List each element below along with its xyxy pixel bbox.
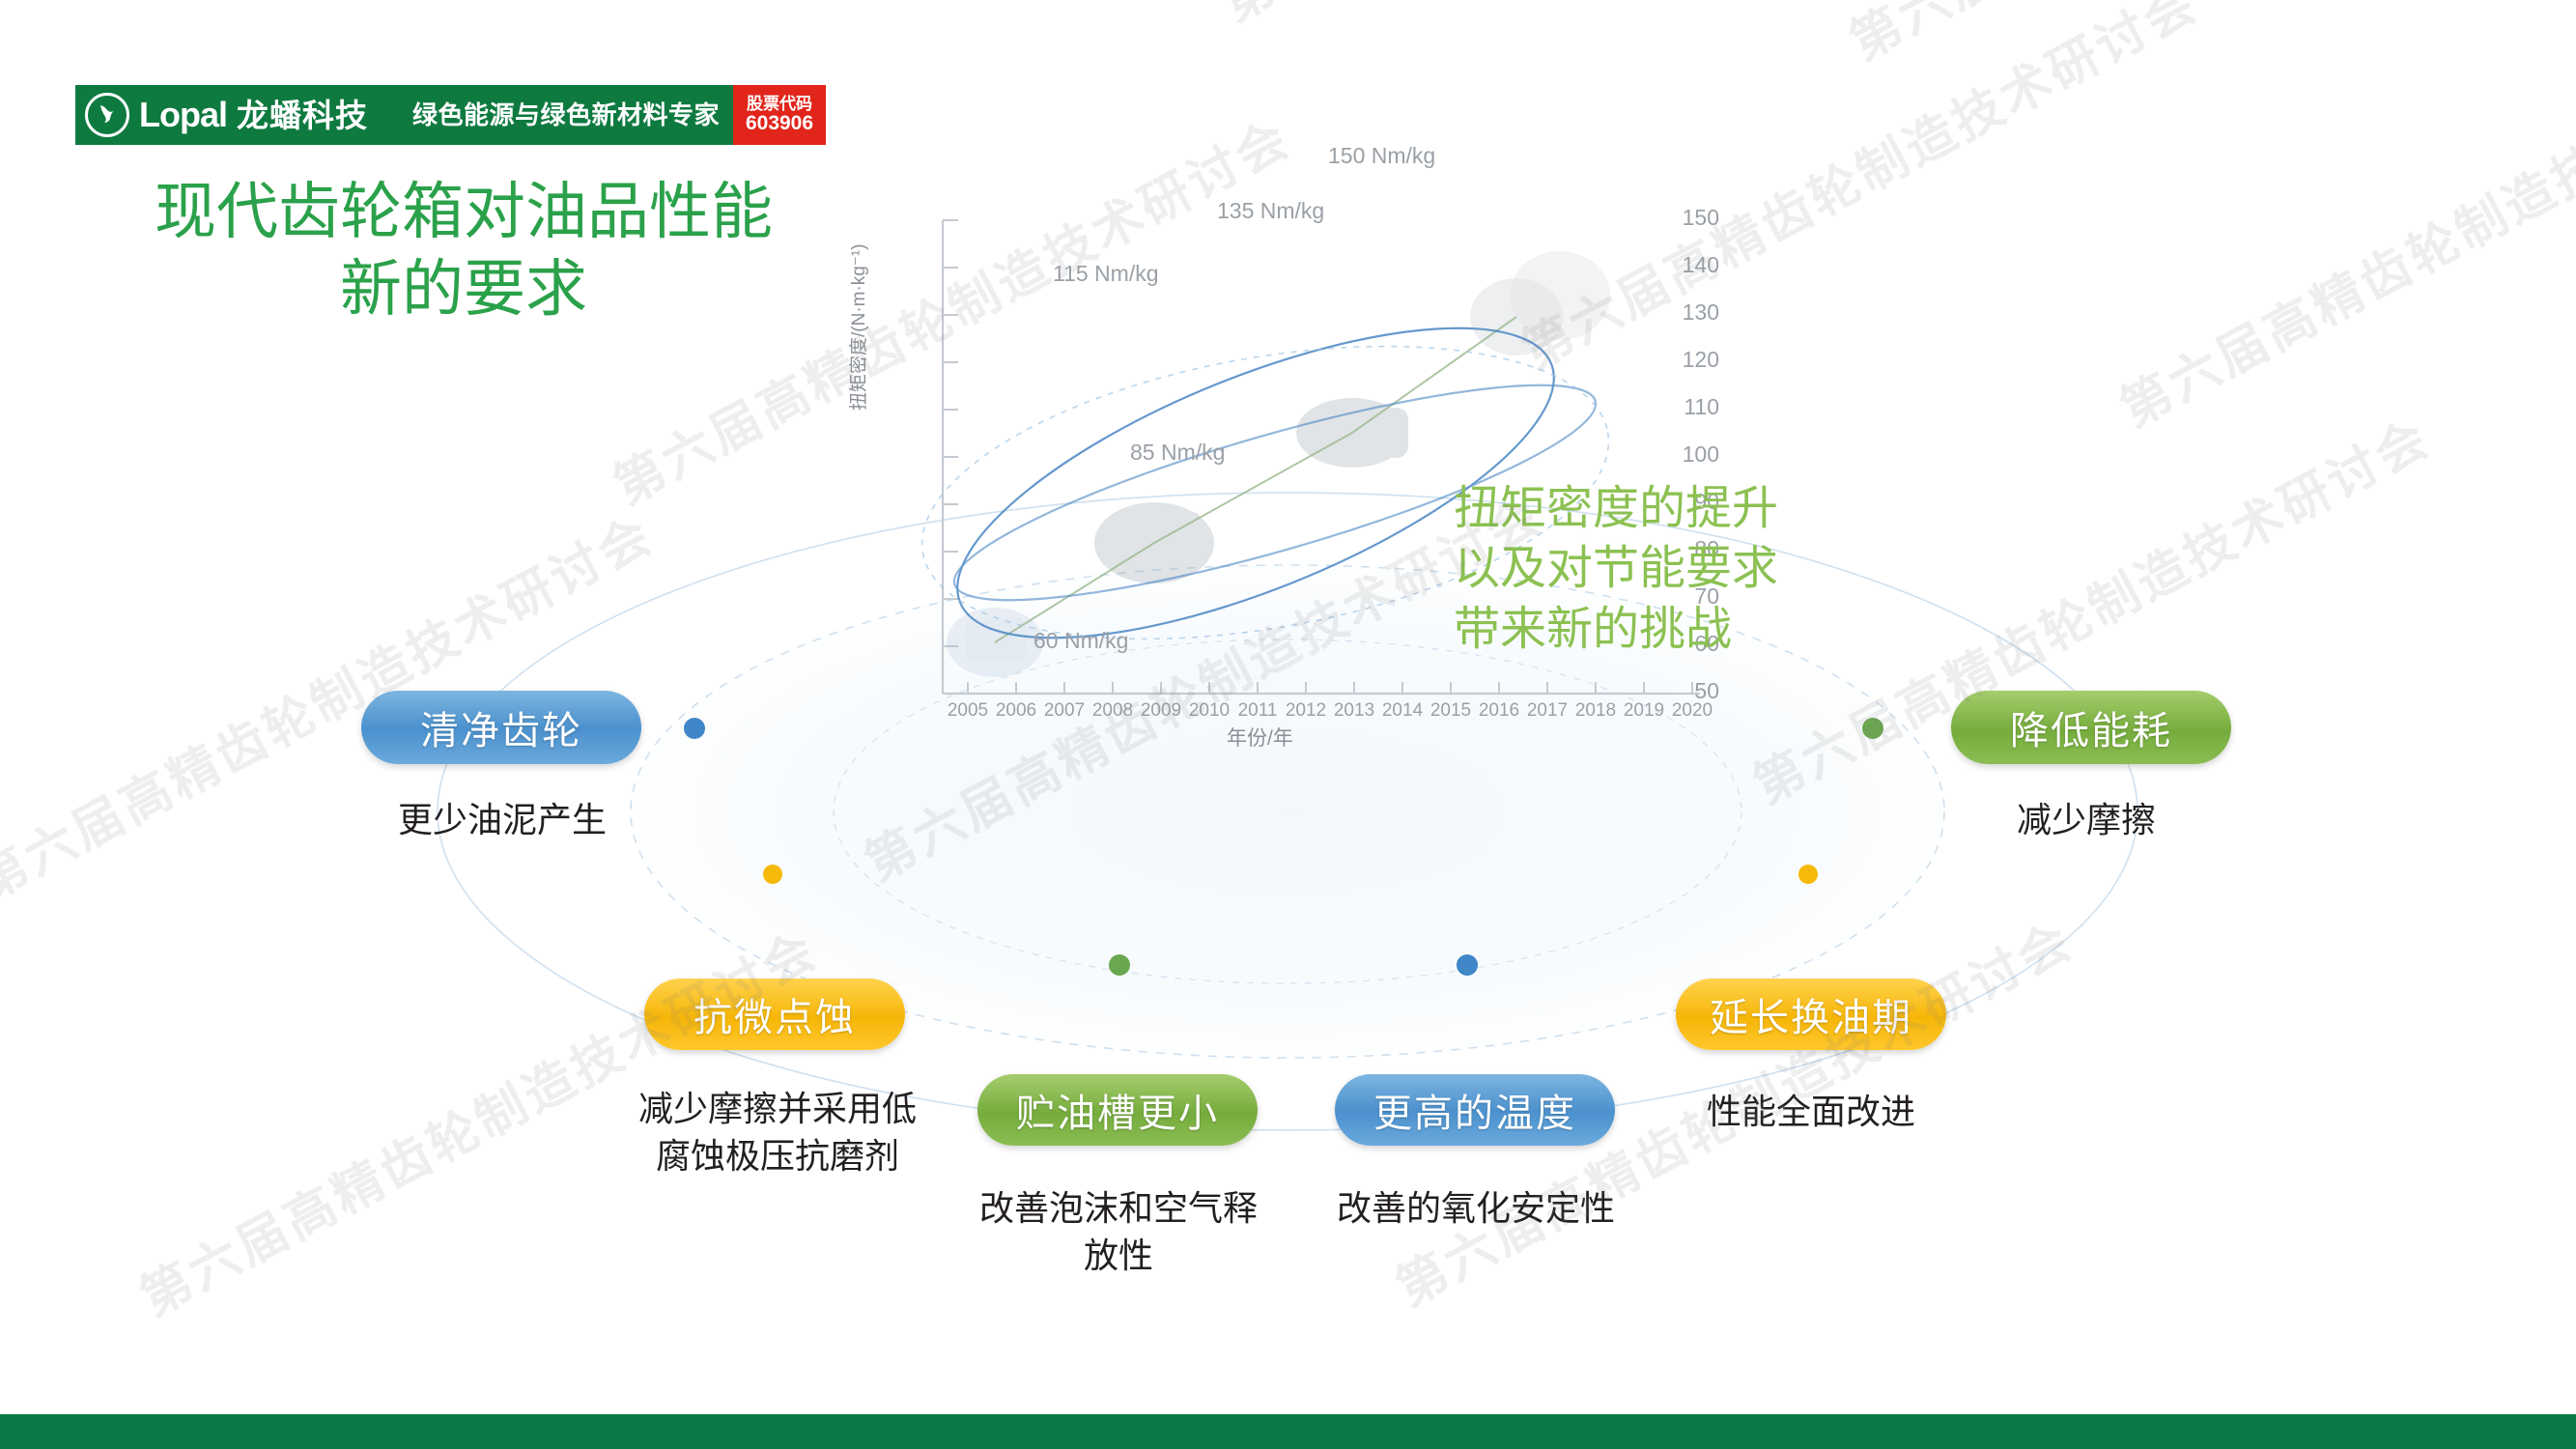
caption-line: 改善的氧化安定性: [1302, 1186, 1650, 1234]
title-line-2: 新的要求: [68, 251, 860, 328]
data-label-85: 85 Nm/kg: [1130, 440, 1225, 466]
data-label-135: 135 Nm/kg: [1217, 198, 1324, 224]
y-tick-label: 150: [1661, 205, 1719, 231]
orbit-dot-extended-drain: [1798, 865, 1818, 884]
caption-line: 更少油泥产生: [328, 798, 676, 845]
annotation-line-2: 以及对节能要求: [1454, 538, 1778, 598]
caption-micropitting: 减少摩擦并采用低 腐蚀极压抗磨剂: [599, 1087, 956, 1180]
x-tick-label: 2020: [1661, 700, 1723, 722]
y-tick-label: 140: [1661, 252, 1719, 278]
caption-line: 腐蚀极压抗磨剂: [599, 1134, 956, 1181]
caption-higher-temp: 改善的氧化安定性: [1302, 1186, 1650, 1234]
orbit-dot-smaller-sump: [1109, 954, 1130, 976]
caption-line: 放性: [945, 1234, 1292, 1281]
title-line-1: 现代齿轮箱对油品性能: [155, 177, 773, 248]
stock-code-badge: 股票代码 603906: [733, 85, 826, 145]
pill-clean-gear[interactable]: 清净齿轮: [361, 691, 641, 764]
caption-line: 减少摩擦: [1922, 798, 2250, 845]
page-title: 现代齿轮箱对油品性能 新的要求: [68, 174, 860, 328]
stock-code-value: 603906: [746, 113, 813, 134]
y-tick-label: 120: [1661, 347, 1719, 373]
slide-canvas: 第六届高精齿轮制造技术研讨会 第六届高精齿轮制造技术研讨会 第六届高精齿轮制造技…: [0, 0, 2576, 1449]
footer-bar: [0, 1414, 2576, 1449]
caption-line: 性能全面改进: [1647, 1090, 1975, 1137]
pill-micropitting[interactable]: 抗微点蚀: [644, 979, 905, 1050]
caption-lower-energy: 减少摩擦: [1922, 798, 2250, 845]
data-label-115: 115 Nm/kg: [1053, 261, 1159, 287]
logo-slogan: 绿色能源与绿色新材料专家: [412, 102, 720, 128]
pill-lower-energy[interactable]: 降低能耗: [1951, 691, 2231, 764]
orbit-dot-lower-energy: [1862, 718, 1883, 739]
orbit-dot-clean-gear: [684, 718, 705, 739]
y-tick-label: 100: [1661, 441, 1719, 468]
logo-chinese-name: 龙蟠科技: [237, 99, 368, 131]
y-tick-label: 130: [1661, 299, 1719, 326]
pill-extended-drain[interactable]: 延长换油期: [1676, 979, 1946, 1050]
data-label-60: 60 Nm/kg: [1033, 628, 1128, 654]
logo-green-band: Lopal 龙蟠科技 绿色能源与绿色新材料专家: [75, 85, 733, 145]
chart-annotation: 扭矩密度的提升 以及对节能要求 带来新的挑战: [1454, 478, 1778, 659]
annotation-line-3: 带来新的挑战: [1454, 599, 1778, 659]
caption-clean-gear: 更少油泥产生: [328, 798, 676, 845]
orbit-dot-micropitting: [763, 865, 782, 884]
trend-connector: [995, 317, 1516, 642]
caption-line: 减少摩擦并采用低: [599, 1087, 956, 1134]
lopal-emblem-icon: [85, 93, 129, 137]
logo-latin-name: Lopal: [139, 98, 227, 132]
annotation-line-1: 扭矩密度的提升: [1454, 478, 1778, 538]
x-axis-label: 年份/年: [1227, 723, 1293, 752]
orbit-dot-higher-temp: [1457, 954, 1478, 976]
pill-higher-temp[interactable]: 更高的温度: [1335, 1074, 1615, 1146]
caption-line: 改善泡沫和空气释: [945, 1186, 1292, 1234]
caption-smaller-sump: 改善泡沫和空气释 放性: [945, 1186, 1292, 1280]
pill-smaller-sump[interactable]: 贮油槽更小: [977, 1074, 1258, 1146]
y-tick-label: 110: [1661, 394, 1719, 420]
data-label-150: 150 Nm/kg: [1328, 143, 1435, 169]
company-logo: Lopal 龙蟠科技 绿色能源与绿色新材料专家 股票代码 603906: [75, 85, 826, 145]
caption-extended-drain: 性能全面改进: [1647, 1090, 1975, 1137]
stock-code-label: 股票代码: [747, 96, 812, 113]
